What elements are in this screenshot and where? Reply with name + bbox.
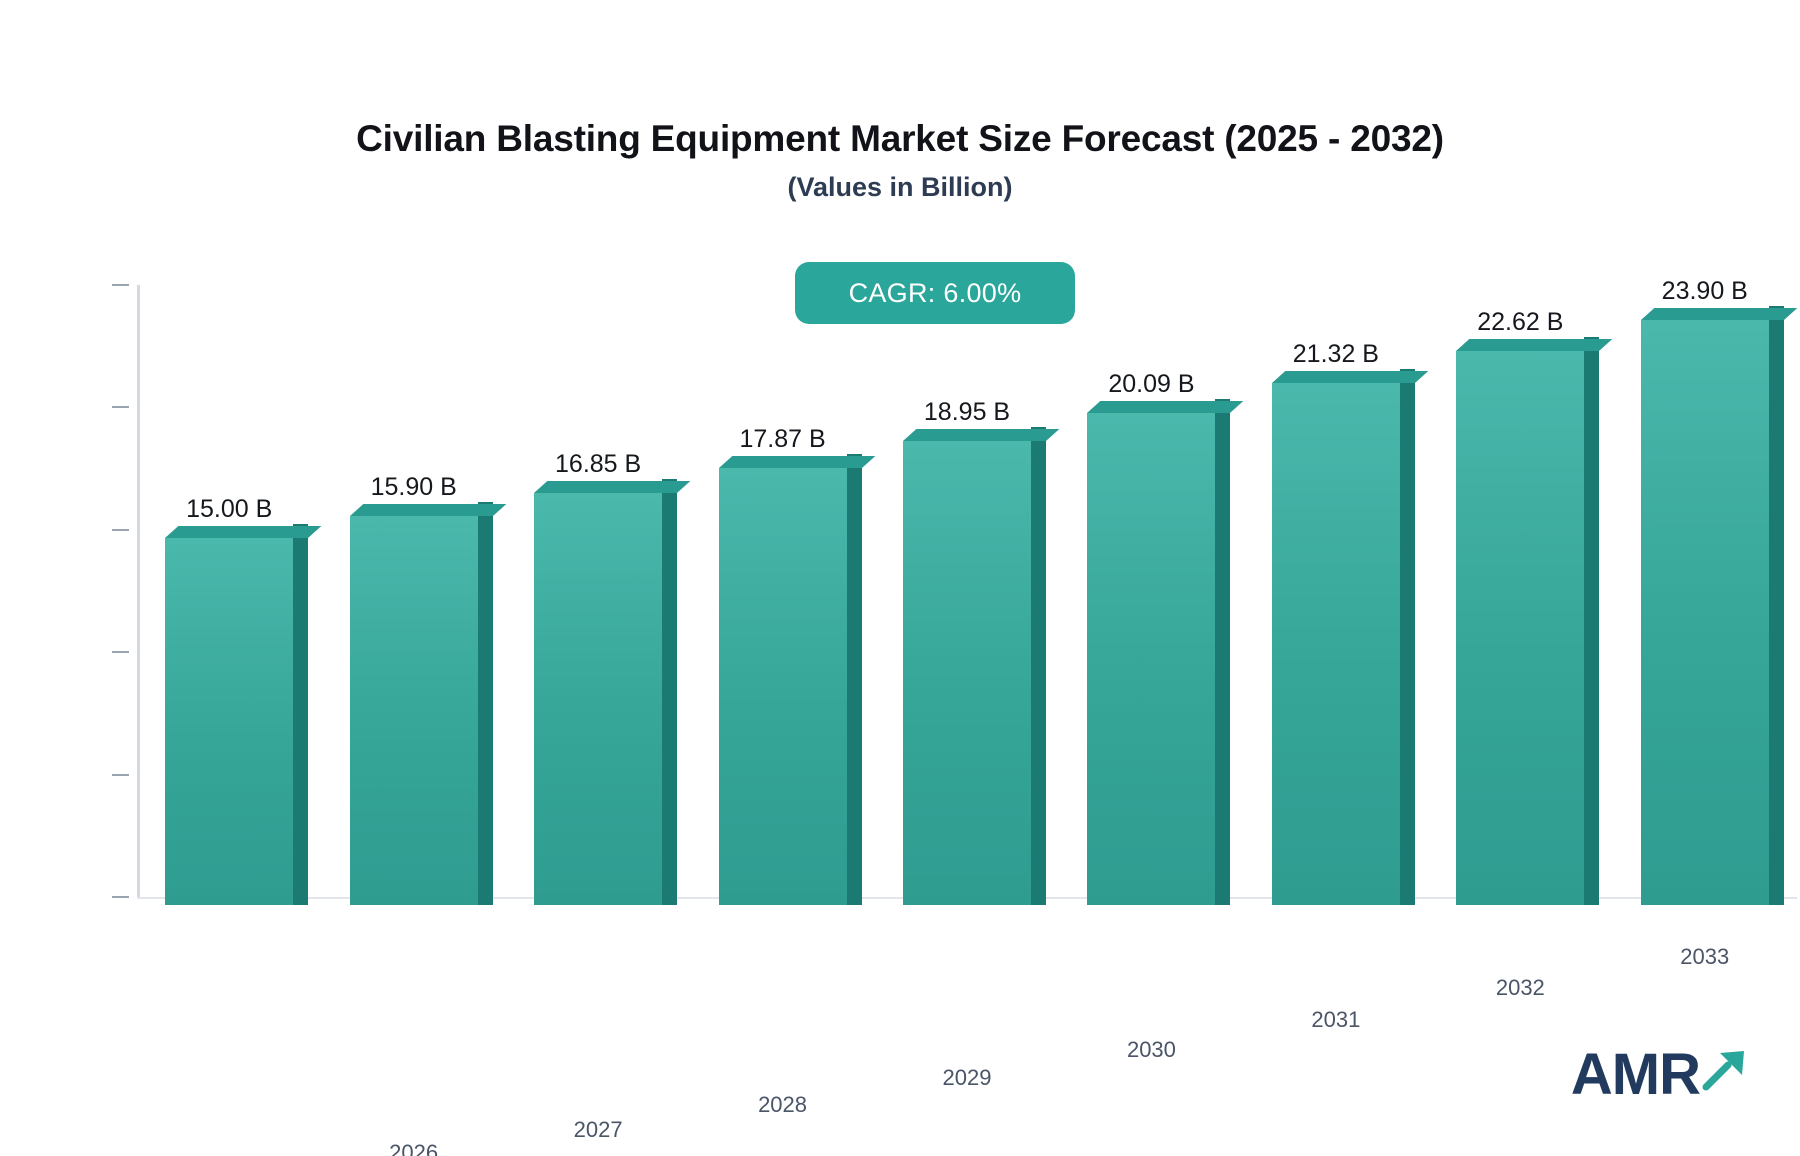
bar-side-face bbox=[1400, 369, 1415, 905]
bar-column[interactable]: 15.00 B2025 bbox=[165, 538, 293, 905]
bar-face bbox=[1456, 351, 1584, 905]
chart-subtitle: (Values in Billion) bbox=[0, 172, 1800, 203]
bar-column[interactable]: 16.85 B2027 bbox=[534, 493, 662, 905]
x-axis-category-label: 2027 bbox=[574, 1117, 623, 1143]
bar-face bbox=[350, 516, 478, 905]
y-axis-line bbox=[137, 285, 140, 897]
y-axis-tick-mark bbox=[112, 896, 129, 898]
bar-top-face bbox=[719, 456, 875, 468]
x-axis-category-label: 2032 bbox=[1496, 975, 1545, 1001]
plot-area: 05.0B10.0B15.0B20.0B25.0B 15.00 B202515.… bbox=[137, 285, 1797, 905]
bar-top-face bbox=[350, 504, 506, 516]
bar-face bbox=[903, 441, 1031, 905]
bar-side-face bbox=[478, 502, 493, 905]
y-axis-tick-mark bbox=[112, 284, 129, 286]
bar-top-face bbox=[1641, 308, 1797, 320]
bar-top-face bbox=[1087, 401, 1243, 413]
amr-wordmark: AMR bbox=[1571, 1046, 1700, 1104]
bar-value-label: 23.90 B bbox=[1662, 277, 1748, 306]
bar-face bbox=[719, 468, 847, 905]
y-axis-tick-mark bbox=[112, 406, 129, 408]
x-axis-category-label: 2033 bbox=[1680, 944, 1729, 970]
bar-top-face bbox=[1456, 339, 1612, 351]
amr-logo: AMR bbox=[1571, 1046, 1748, 1104]
bar-column[interactable]: 23.90 B2033 bbox=[1641, 320, 1769, 905]
y-axis-tick-mark bbox=[112, 651, 129, 653]
bar-face bbox=[534, 493, 662, 905]
x-axis-category-label: 2030 bbox=[1127, 1037, 1176, 1063]
bar-face bbox=[165, 538, 293, 905]
x-axis-category-label: 2028 bbox=[758, 1092, 807, 1118]
bar-face bbox=[1641, 320, 1769, 905]
bar-top-face bbox=[903, 429, 1059, 441]
bar-value-label: 22.62 B bbox=[1477, 308, 1563, 337]
bar-side-face bbox=[1215, 399, 1230, 905]
bar-side-face bbox=[847, 454, 862, 905]
bar-value-label: 15.90 B bbox=[371, 473, 457, 502]
bar-value-label: 20.09 B bbox=[1108, 370, 1194, 399]
bar-column[interactable]: 20.09 B2030 bbox=[1087, 413, 1215, 905]
chart-canvas: Civilian Blasting Equipment Market Size … bbox=[0, 0, 1800, 1156]
x-axis-category-label: 2031 bbox=[1311, 1007, 1360, 1033]
x-axis-category-label: 2029 bbox=[943, 1065, 992, 1091]
bar-value-label: 15.00 B bbox=[186, 495, 272, 524]
bar-top-face bbox=[534, 481, 690, 493]
bar-top-face bbox=[1272, 371, 1428, 383]
bar-side-face bbox=[1031, 427, 1046, 905]
bar-value-label: 16.85 B bbox=[555, 450, 641, 479]
bar-side-face bbox=[1584, 337, 1599, 905]
bar-face bbox=[1272, 383, 1400, 905]
bar-value-label: 21.32 B bbox=[1293, 340, 1379, 369]
bar-column[interactable]: 22.62 B2032 bbox=[1456, 351, 1584, 905]
bar-value-label: 18.95 B bbox=[924, 398, 1010, 427]
bar-side-face bbox=[293, 524, 308, 905]
bar-top-face bbox=[165, 526, 321, 538]
bar-value-label: 17.87 B bbox=[739, 425, 825, 454]
bar-side-face bbox=[662, 479, 677, 905]
bar-face bbox=[1087, 413, 1215, 905]
bar-column[interactable]: 17.87 B2028 bbox=[719, 468, 847, 905]
bar-column[interactable]: 21.32 B2031 bbox=[1272, 383, 1400, 905]
bar-column[interactable]: 15.90 B2026 bbox=[350, 516, 478, 905]
bar-side-face bbox=[1769, 306, 1784, 905]
bar-column[interactable]: 18.95 B2029 bbox=[903, 441, 1031, 905]
page-title: Civilian Blasting Equipment Market Size … bbox=[0, 118, 1800, 160]
y-axis-tick-mark bbox=[112, 529, 129, 531]
y-axis-tick-mark bbox=[112, 774, 129, 776]
growth-arrow-icon bbox=[1702, 1047, 1748, 1096]
x-axis-category-label: 2026 bbox=[389, 1140, 438, 1156]
